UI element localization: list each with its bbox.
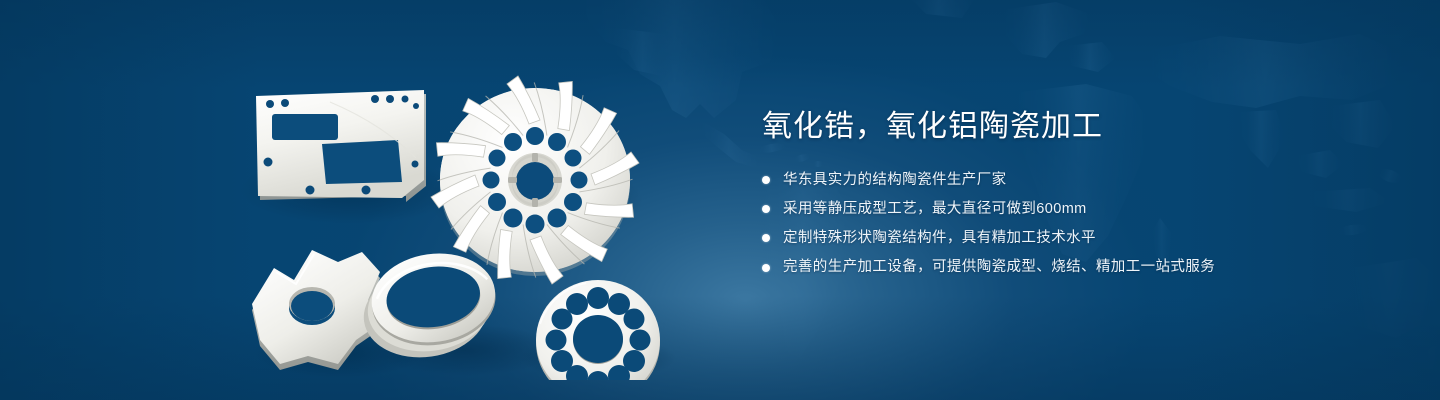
list-item-label: 采用等静压成型工艺，最大直径可做到600mm <box>783 199 1087 219</box>
ceramic-perforated-disc <box>536 280 660 380</box>
list-item: 定制特殊形状陶瓷结构件，具有精加工技术水平 <box>762 228 1362 248</box>
list-item-label: 完善的生产加工设备，可提供陶瓷成型、烧结、精加工一站式服务 <box>783 257 1215 277</box>
list-item-label: 华东具实力的结构陶瓷件生产厂家 <box>783 170 1007 190</box>
list-item: 华东具实力的结构陶瓷件生产厂家 <box>762 170 1362 190</box>
list-item: 采用等静压成型工艺，最大直径可做到600mm <box>762 199 1362 219</box>
list-item: 完善的生产加工设备，可提供陶瓷成型、烧结、精加工一站式服务 <box>762 257 1362 277</box>
bullet-dot-icon <box>762 176 770 184</box>
product-banner: 氧化锆，氧化铝陶瓷加工 华东具实力的结构陶瓷件生产厂家 采用等静压成型工艺，最大… <box>0 0 1440 400</box>
page-title: 氧化锆，氧化铝陶瓷加工 <box>762 108 1362 146</box>
ceramic-impeller-fan-disc <box>431 76 639 284</box>
list-item-label: 定制特殊形状陶瓷结构件，具有精加工技术水平 <box>783 228 1096 248</box>
feature-list: 华东具实力的结构陶瓷件生产厂家 采用等静压成型工艺，最大直径可做到600mm 定… <box>762 170 1362 278</box>
product-images-group <box>230 40 700 380</box>
bullet-dot-icon <box>762 205 770 213</box>
banner-text-column: 氧化锆，氧化铝陶瓷加工 华东具实力的结构陶瓷件生产厂家 采用等静压成型工艺，最大… <box>762 108 1362 287</box>
bullet-dot-icon <box>762 234 770 242</box>
ceramic-flat-plate-with-cutouts <box>256 90 426 202</box>
bullet-dot-icon <box>762 264 770 272</box>
